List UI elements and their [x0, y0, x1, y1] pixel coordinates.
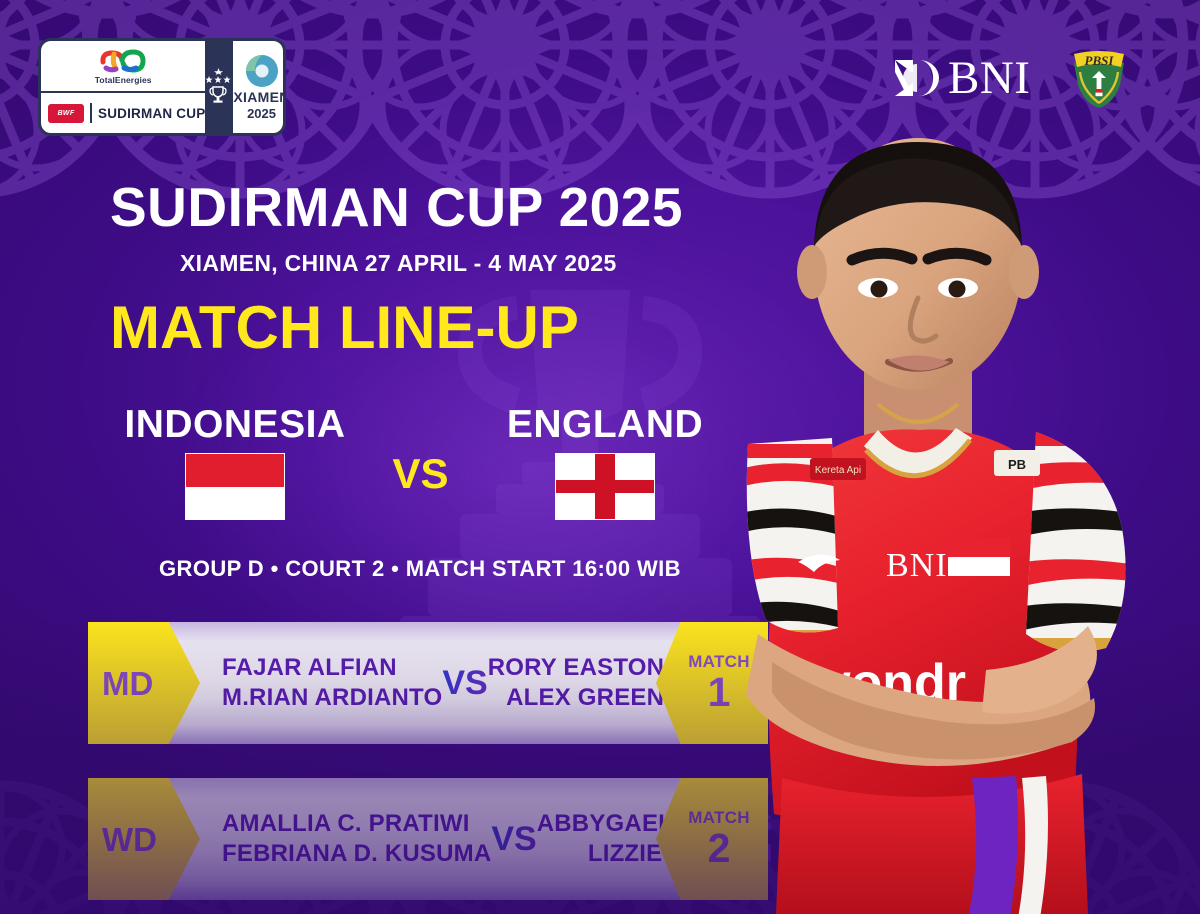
- flag-england-icon: [555, 453, 655, 520]
- bwf-logo-icon: BWF: [48, 104, 84, 123]
- player-name: FEBRIANA D. KUSUMA: [222, 841, 491, 868]
- category-label: MD: [102, 667, 153, 700]
- totalenergies-logo: TotalEnergies: [41, 41, 205, 93]
- lineup-heading: MATCH LINE-UP: [110, 295, 810, 361]
- player-name: M.RIAN ARDIANTO: [222, 685, 442, 712]
- sudirman-cup-label: SUDIRMAN CUP: [98, 106, 205, 121]
- totalenergies-mark-icon: [96, 48, 150, 74]
- svg-text:Kereta Api: Kereta Api: [815, 465, 861, 476]
- category-label: WD: [102, 823, 157, 856]
- player-name: FAJAR ALFIAN: [222, 655, 397, 682]
- teams-vs-label: VS: [368, 453, 473, 495]
- poster-canvas: TotalEnergies BWF SUDIRMAN CUP: [0, 0, 1200, 914]
- match-row[interactable]: MD FAJAR ALFIAN M.RIAN ARDIANTO VS RORY …: [88, 622, 768, 744]
- page-title: SUDIRMAN CUP 2025: [110, 180, 770, 235]
- trophy-icon: [205, 41, 231, 133]
- bni-logo: BNI: [893, 52, 1030, 104]
- home-team-name: INDONESIA: [110, 405, 360, 444]
- player-name: RORY EASTON: [488, 655, 664, 682]
- match-players: FAJAR ALFIAN M.RIAN ARDIANTO VS RORY EAS…: [200, 622, 656, 744]
- svg-text:BNI: BNI: [886, 547, 948, 584]
- totalenergies-label: TotalEnergies: [95, 75, 152, 85]
- player-name: ALEX GREEN: [506, 685, 664, 712]
- svg-text:wondr: wondr: [809, 654, 966, 712]
- bwf-sudirman-row: BWF SUDIRMAN CUP: [41, 93, 205, 133]
- host-city-label: XIAMEN: [233, 89, 286, 105]
- away-team-name: ENGLAND: [480, 405, 730, 444]
- jersey-flag-patch: [948, 538, 1010, 576]
- match-vs-label: VS: [491, 822, 536, 856]
- event-logo: TotalEnergies BWF SUDIRMAN CUP: [38, 38, 286, 136]
- flag-stripe-red: [186, 454, 284, 487]
- home-pair: FAJAR ALFIAN M.RIAN ARDIANTO: [200, 655, 442, 712]
- athlete-photo: Kereta Api PB BNI wondr: [736, 114, 1200, 914]
- match-players: AMALLIA C. PRATIWI FEBRIANA D. KUSUMA VS…: [200, 778, 656, 900]
- event-logo-left: TotalEnergies BWF SUDIRMAN CUP: [41, 41, 205, 133]
- home-pair: AMALLIA C. PRATIWI FEBRIANA D. KUSUMA: [200, 811, 491, 868]
- match-number: 2: [708, 828, 731, 869]
- match-row[interactable]: WD AMALLIA C. PRATIWI FEBRIANA D. KUSUMA…: [88, 778, 768, 900]
- host-year-label: 2025: [247, 106, 276, 121]
- flag-cross-horizontal: [556, 480, 654, 493]
- bni-label: BNI: [948, 55, 1030, 102]
- svg-text:PB: PB: [1008, 457, 1026, 472]
- pbsi-crest-icon: PBSI: [1068, 47, 1130, 109]
- logo-divider: [90, 103, 92, 123]
- svg-text:PBSI: PBSI: [1085, 53, 1115, 68]
- away-team: ENGLAND: [480, 405, 730, 520]
- event-subtitle: XIAMEN, CHINA 27 APRIL - 4 MAY 2025: [180, 250, 780, 277]
- player-name: AMALLIA C. PRATIWI: [222, 811, 470, 838]
- match-number: 1: [708, 672, 731, 713]
- bni-mark-icon: [893, 56, 941, 100]
- match-vs-label: VS: [442, 666, 487, 700]
- xiamen-emblem-icon: [240, 54, 284, 88]
- match-info-line: GROUP D • COURT 2 • MATCH START 16:00 WI…: [110, 556, 730, 582]
- teams-block: INDONESIA VS ENGLAND: [110, 405, 730, 570]
- host-city-block: XIAMEN 2025: [231, 41, 286, 133]
- home-team: INDONESIA: [110, 405, 360, 520]
- flag-indonesia-icon: [185, 453, 285, 520]
